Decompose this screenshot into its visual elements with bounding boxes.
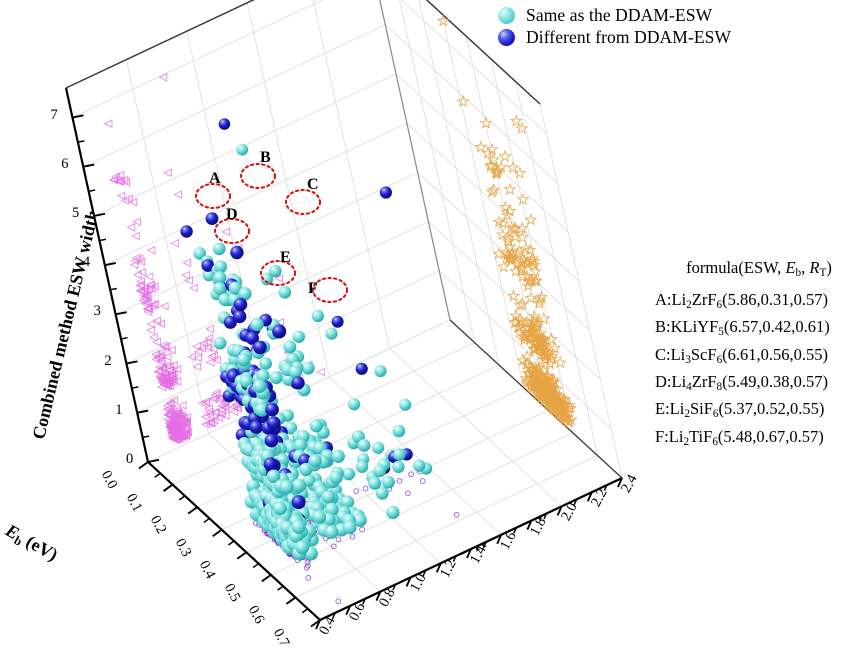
point-label-c: C: [307, 176, 319, 194]
y-tick-6: 6: [61, 156, 68, 173]
y-tick-1: 1: [115, 402, 122, 419]
point-label-f: F: [308, 280, 318, 298]
y-tick-4: 4: [83, 254, 90, 271]
point-label-d: D: [226, 206, 238, 224]
y-tick-7: 7: [50, 107, 57, 124]
y-tick-3: 3: [94, 303, 101, 320]
point-label-b: B: [260, 149, 271, 167]
point-label-e: E: [280, 249, 291, 267]
scatter-plot-3d: [0, 0, 864, 643]
y-tick-0: 0: [126, 451, 133, 468]
y-tick-5: 5: [72, 205, 79, 222]
y-tick-2: 2: [104, 353, 111, 370]
figure-canvas: Same as the DDAM-ESW Different from DDAM…: [0, 0, 864, 643]
point-label-a: A: [209, 170, 221, 188]
